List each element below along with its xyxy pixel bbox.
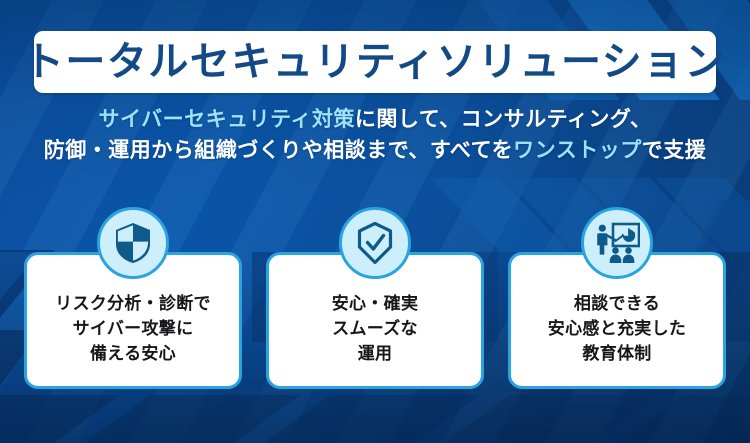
feature-card-text: 相談できる 安心感と充実した 教育体制 xyxy=(548,275,686,366)
feature-card-line: 運用 xyxy=(332,341,419,366)
subtitle-plain-2b: で支援 xyxy=(642,139,707,162)
presentation-training-icon xyxy=(581,207,653,279)
subtitle-highlight-1: サイバーセキュリティ対策 xyxy=(99,108,355,131)
shield-check-icon xyxy=(339,207,411,279)
page-title: トータルセキュリティソリューション xyxy=(24,42,726,82)
feature-card-line: 教育体制 xyxy=(548,341,686,366)
feature-card-line: 安心感と充実した xyxy=(548,316,686,341)
feature-card-text: 安心・確実 スムーズな 運用 xyxy=(332,275,419,366)
feature-card: 相談できる 安心感と充実した 教育体制 xyxy=(508,252,726,389)
feature-card-line: スムーズな xyxy=(332,316,419,341)
subtitle-plain-1: に関して、コンサルティング、 xyxy=(355,108,652,131)
subtitle-line-1: サイバーセキュリティ対策に関して、コンサルティング、 xyxy=(0,104,750,135)
title-ribbon: トータルセキュリティソリューション xyxy=(34,31,716,93)
feature-card-line: 相談できる xyxy=(548,291,686,316)
security-solution-banner: トータルセキュリティソリューション サイバーセキュリティ対策に関して、コンサルテ… xyxy=(0,0,750,443)
subtitle-highlight-2: ワンストップ xyxy=(513,139,642,162)
subtitle-line-2: 防御・運用から組織づくりや相談まで、すべてをワンストップで支援 xyxy=(0,135,750,166)
shield-quadrant-icon xyxy=(97,207,169,279)
feature-card-list: リスク分析・診断で サイバー攻撃に 備える安心 安心・確実 スムーズな 運用 xyxy=(0,252,750,397)
feature-card: 安心・確実 スムーズな 運用 xyxy=(266,252,484,389)
feature-card: リスク分析・診断で サイバー攻撃に 備える安心 xyxy=(24,252,242,389)
feature-card-line: サイバー攻撃に xyxy=(55,316,211,341)
feature-card-line: 備える安心 xyxy=(55,341,211,366)
feature-card-line: 安心・確実 xyxy=(332,291,419,316)
feature-card-text: リスク分析・診断で サイバー攻撃に 備える安心 xyxy=(55,275,211,366)
subtitle-block: サイバーセキュリティ対策に関して、コンサルティング、 防御・運用から組織づくりや… xyxy=(0,104,750,166)
feature-card-line: リスク分析・診断で xyxy=(55,291,211,316)
subtitle-plain-2a: 防御・運用から組織づくりや相談まで、すべてを xyxy=(44,139,513,162)
